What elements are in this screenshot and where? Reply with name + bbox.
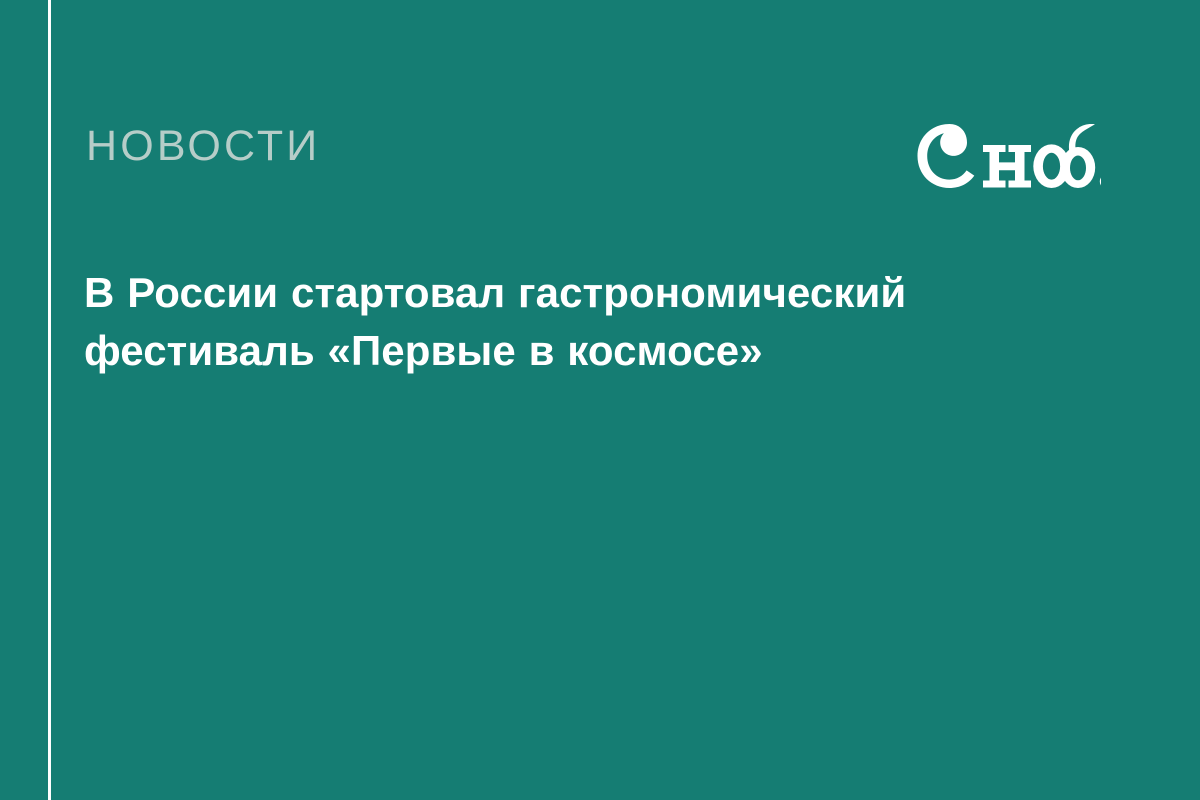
left-vertical-rule bbox=[48, 0, 51, 800]
snob-logo[interactable] bbox=[911, 115, 1101, 197]
page-title: В России стартовал гастрономический фест… bbox=[84, 264, 1044, 380]
news-share-card: НОВОСТИ bbox=[0, 0, 1200, 800]
card-header: НОВОСТИ bbox=[86, 120, 1150, 190]
section-kicker-news: НОВОСТИ bbox=[86, 120, 320, 172]
